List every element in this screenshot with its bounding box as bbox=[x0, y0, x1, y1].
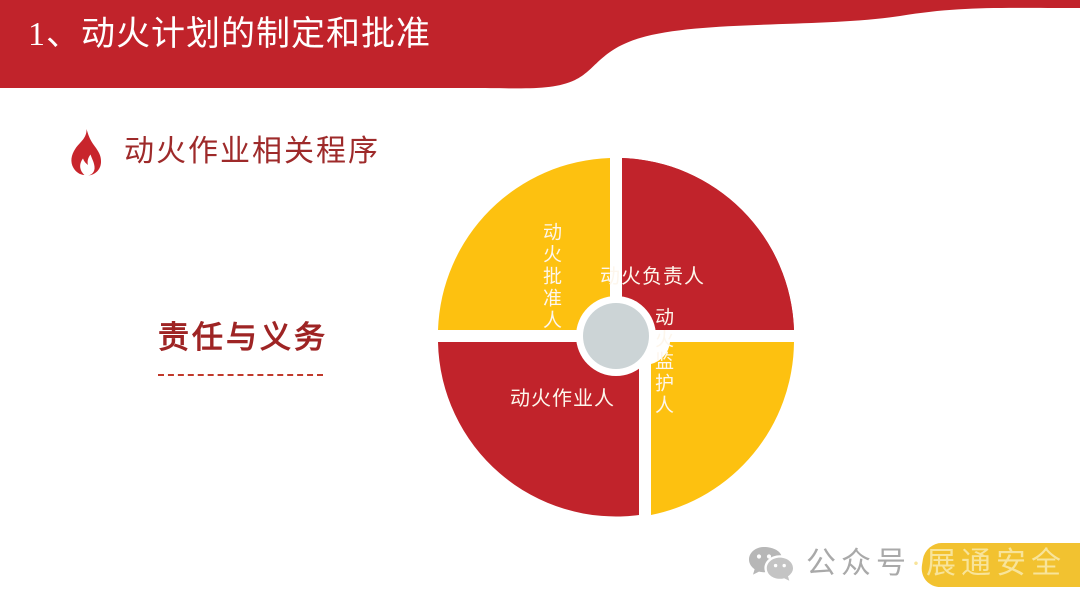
header-banner-shape bbox=[0, 0, 1080, 95]
pie-slice-top-right bbox=[622, 158, 794, 330]
watermark-prefix: 公众号 bbox=[806, 547, 911, 580]
page-title: 1、动火计划的制定和批准 bbox=[28, 13, 431, 57]
section-heading: 动火作业相关程序 bbox=[66, 128, 380, 176]
pinwheel-chart bbox=[432, 152, 800, 520]
header-banner: 1、动火计划的制定和批准 bbox=[0, 0, 1080, 95]
wechat-icon bbox=[748, 545, 794, 583]
pie-label-responsible: 动火负责人 bbox=[600, 264, 705, 290]
watermark: 公众号·展通安全 bbox=[748, 534, 1068, 594]
watermark-separator: · bbox=[911, 547, 926, 580]
pie-label-operator: 动火作业人 bbox=[510, 386, 615, 412]
pie-label-approver: 动火批准人 bbox=[538, 222, 562, 332]
flame-icon bbox=[66, 128, 102, 176]
pie-slice-top-left bbox=[438, 158, 610, 330]
left-caption-label: 责任与义务 bbox=[158, 318, 323, 358]
watermark-label: 公众号·展通安全 bbox=[806, 542, 1066, 586]
left-caption-dashed-rule bbox=[158, 374, 323, 376]
pie-label-supervisor: 动火监护人 bbox=[650, 307, 674, 417]
section-heading-label: 动火作业相关程序 bbox=[124, 132, 380, 172]
watermark-text-wrap: 公众号·展通安全 bbox=[806, 541, 1066, 587]
pinwheel-diagram: 动火负责人 动火监护人 动火作业人 动火批准人 bbox=[432, 152, 800, 520]
watermark-brand: 展通安全 bbox=[926, 547, 1066, 580]
left-caption-block: 责任与义务 bbox=[158, 318, 323, 376]
pinwheel-center-hub bbox=[583, 303, 649, 369]
